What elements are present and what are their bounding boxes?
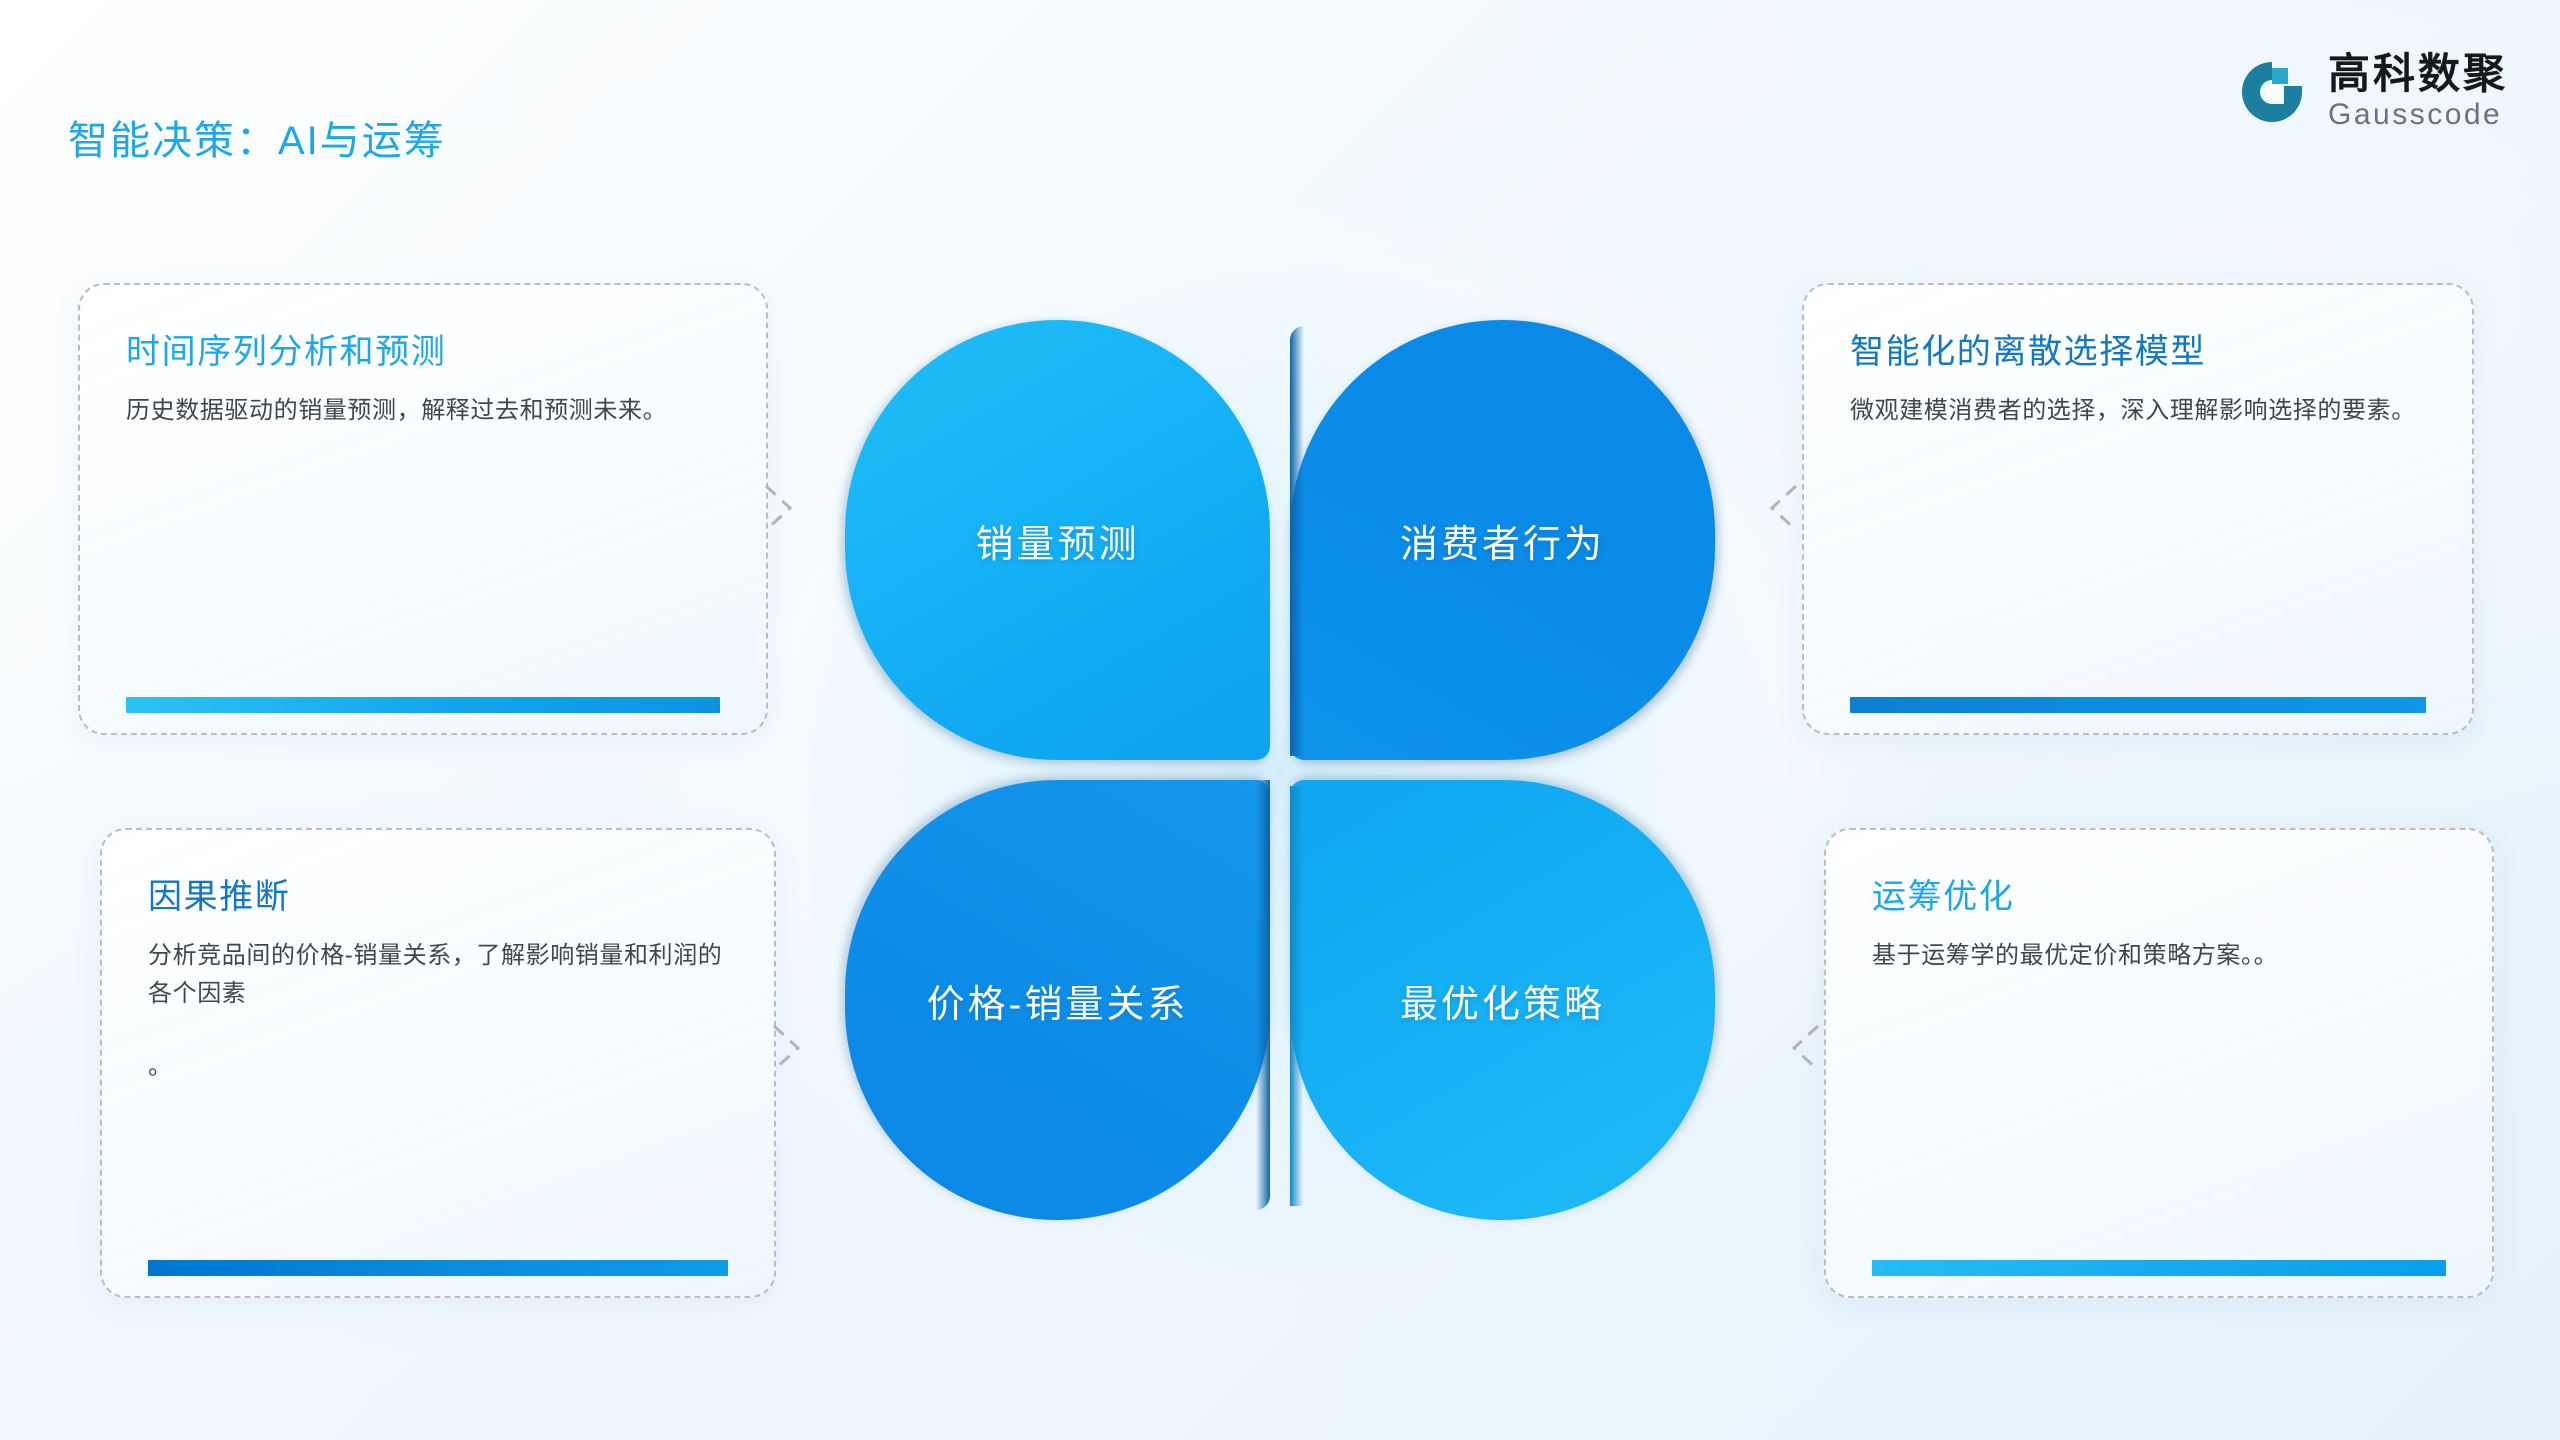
four-petal-diagram: 销量预测 消费者行为 价格-销量关系 最优化策略 [845, 320, 1715, 1220]
petal-consumer-behavior[interactable]: 消费者行为 [1290, 320, 1715, 760]
petal-label: 销量预测 [975, 513, 1139, 568]
petal-label: 最优化策略 [1400, 973, 1605, 1028]
card-title: 因果推断 [148, 876, 728, 919]
card-body-text: 分析竞品间的价格-销量关系，了解影响销量和利润的各个因素 [148, 942, 722, 1008]
info-card-discrete-choice[interactable]: 智能化的离散选择模型 微观建模消费者的选择，深入理解影响选择的要素。 [1802, 283, 2474, 735]
card-body: 历史数据驱动的销量预测，解释过去和预测未来。 [126, 392, 720, 431]
card-title: 智能化的离散选择模型 [1850, 331, 2426, 374]
petal-label: 价格-销量关系 [927, 973, 1189, 1028]
petal-optimization-strategy[interactable]: 最优化策略 [1290, 780, 1715, 1220]
petal-label: 消费者行为 [1400, 513, 1605, 568]
petal-sales-forecast[interactable]: 销量预测 [845, 320, 1270, 760]
card-body: 基于运筹学的最优定价和策略方案。。 [1872, 937, 2446, 976]
brand-name-cn: 高科数聚 [2328, 52, 2508, 96]
card-title: 运筹优化 [1872, 876, 2446, 919]
brand-logo: 高科数聚 Gausscode [2236, 52, 2508, 131]
card-body-text: 微观建模消费者的选择，深入理解影响选择的要素。 [1850, 397, 2416, 424]
brand-logo-text: 高科数聚 Gausscode [2328, 52, 2508, 131]
card-body-tail: 。 [148, 1048, 728, 1087]
info-card-operations-research[interactable]: 运筹优化 基于运筹学的最优定价和策略方案。。 [1824, 828, 2494, 1298]
gausscode-c-mark-icon [2236, 56, 2308, 128]
page-header: 智能决策：AI与运筹 高科数聚 Gausscode [0, 0, 2560, 165]
card-accent-bar [126, 697, 720, 713]
chevron-left-dashed-icon [1784, 1020, 1824, 1076]
page-title: 智能决策：AI与运筹 [68, 108, 446, 166]
card-accent-bar [1872, 1260, 2446, 1276]
card-body-text: 基于运筹学的最优定价和策略方案。。 [1872, 942, 2278, 969]
brand-name-en: Gausscode [2328, 98, 2508, 131]
card-accent-bar [1850, 697, 2426, 713]
card-title: 时间序列分析和预测 [126, 331, 720, 374]
card-accent-bar [148, 1260, 728, 1276]
card-body: 分析竞品间的价格-销量关系，了解影响销量和利润的各个因素 。 [148, 937, 728, 1088]
petal-price-sales-relation[interactable]: 价格-销量关系 [845, 780, 1270, 1220]
card-body-text: 历史数据驱动的销量预测，解释过去和预测未来。 [126, 397, 667, 424]
info-card-time-series[interactable]: 时间序列分析和预测 历史数据驱动的销量预测，解释过去和预测未来。 [78, 283, 768, 735]
card-body: 微观建模消费者的选择，深入理解影响选择的要素。 [1850, 392, 2426, 431]
info-card-causal-inference[interactable]: 因果推断 分析竞品间的价格-销量关系，了解影响销量和利润的各个因素 。 [100, 828, 776, 1298]
